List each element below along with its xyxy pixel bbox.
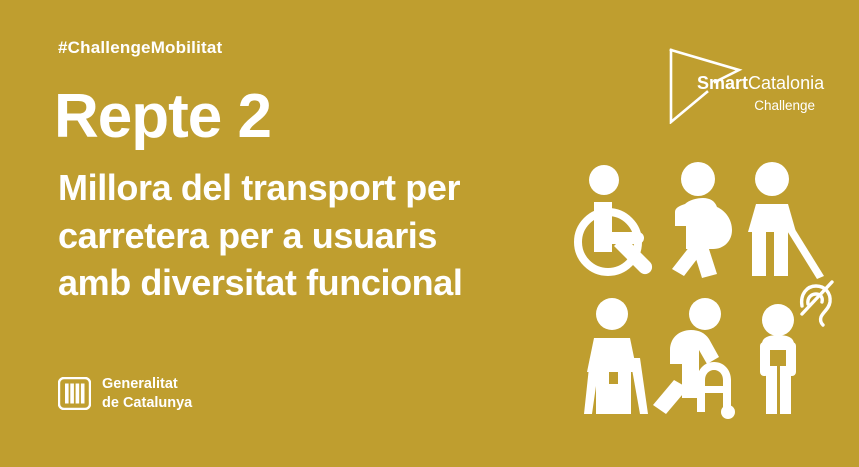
- subtitle-line-1: Millora del transport per: [58, 164, 578, 212]
- generalitat-logo: Generalitat de Catalunya: [58, 375, 192, 412]
- smartcatalonia-catalonia: Catalonia: [748, 73, 824, 93]
- accessibility-pictograms: [572, 160, 840, 422]
- subtitle: Millora del transport per carretera per …: [58, 164, 578, 307]
- smartcatalonia-logo: SmartCatalonia Challenge: [667, 48, 817, 124]
- smartcatalonia-challenge: Challenge: [697, 99, 817, 113]
- person-walker-icon: [652, 288, 756, 418]
- generalitat-shield-icon: [58, 377, 91, 410]
- smartcatalonia-smart: Smart: [697, 73, 748, 93]
- subtitle-line-2: carretera per a usuaris: [58, 212, 578, 260]
- deaf-person-icon: [752, 280, 844, 418]
- generalitat-line-2: de Catalunya: [102, 394, 192, 413]
- generalitat-wordmark: Generalitat de Catalunya: [102, 375, 192, 412]
- pregnant-person-icon: [664, 160, 744, 278]
- page-title: Repte 2: [54, 86, 271, 148]
- poster-root: { "theme": { "background_color": "#bf9e2…: [0, 0, 859, 467]
- wheelchair-user-icon: [572, 160, 660, 278]
- smartcatalonia-name: SmartCatalonia: [697, 74, 817, 93]
- blind-person-cane-icon: [744, 160, 836, 278]
- smartcatalonia-wordmark: SmartCatalonia Challenge: [697, 74, 817, 113]
- generalitat-line-1: Generalitat: [102, 375, 192, 394]
- subtitle-line-3: amb diversitat funcional: [58, 259, 578, 307]
- campaign-hashtag: #ChallengeMobilitat: [58, 38, 222, 58]
- person-crutches-icon: [570, 296, 662, 418]
